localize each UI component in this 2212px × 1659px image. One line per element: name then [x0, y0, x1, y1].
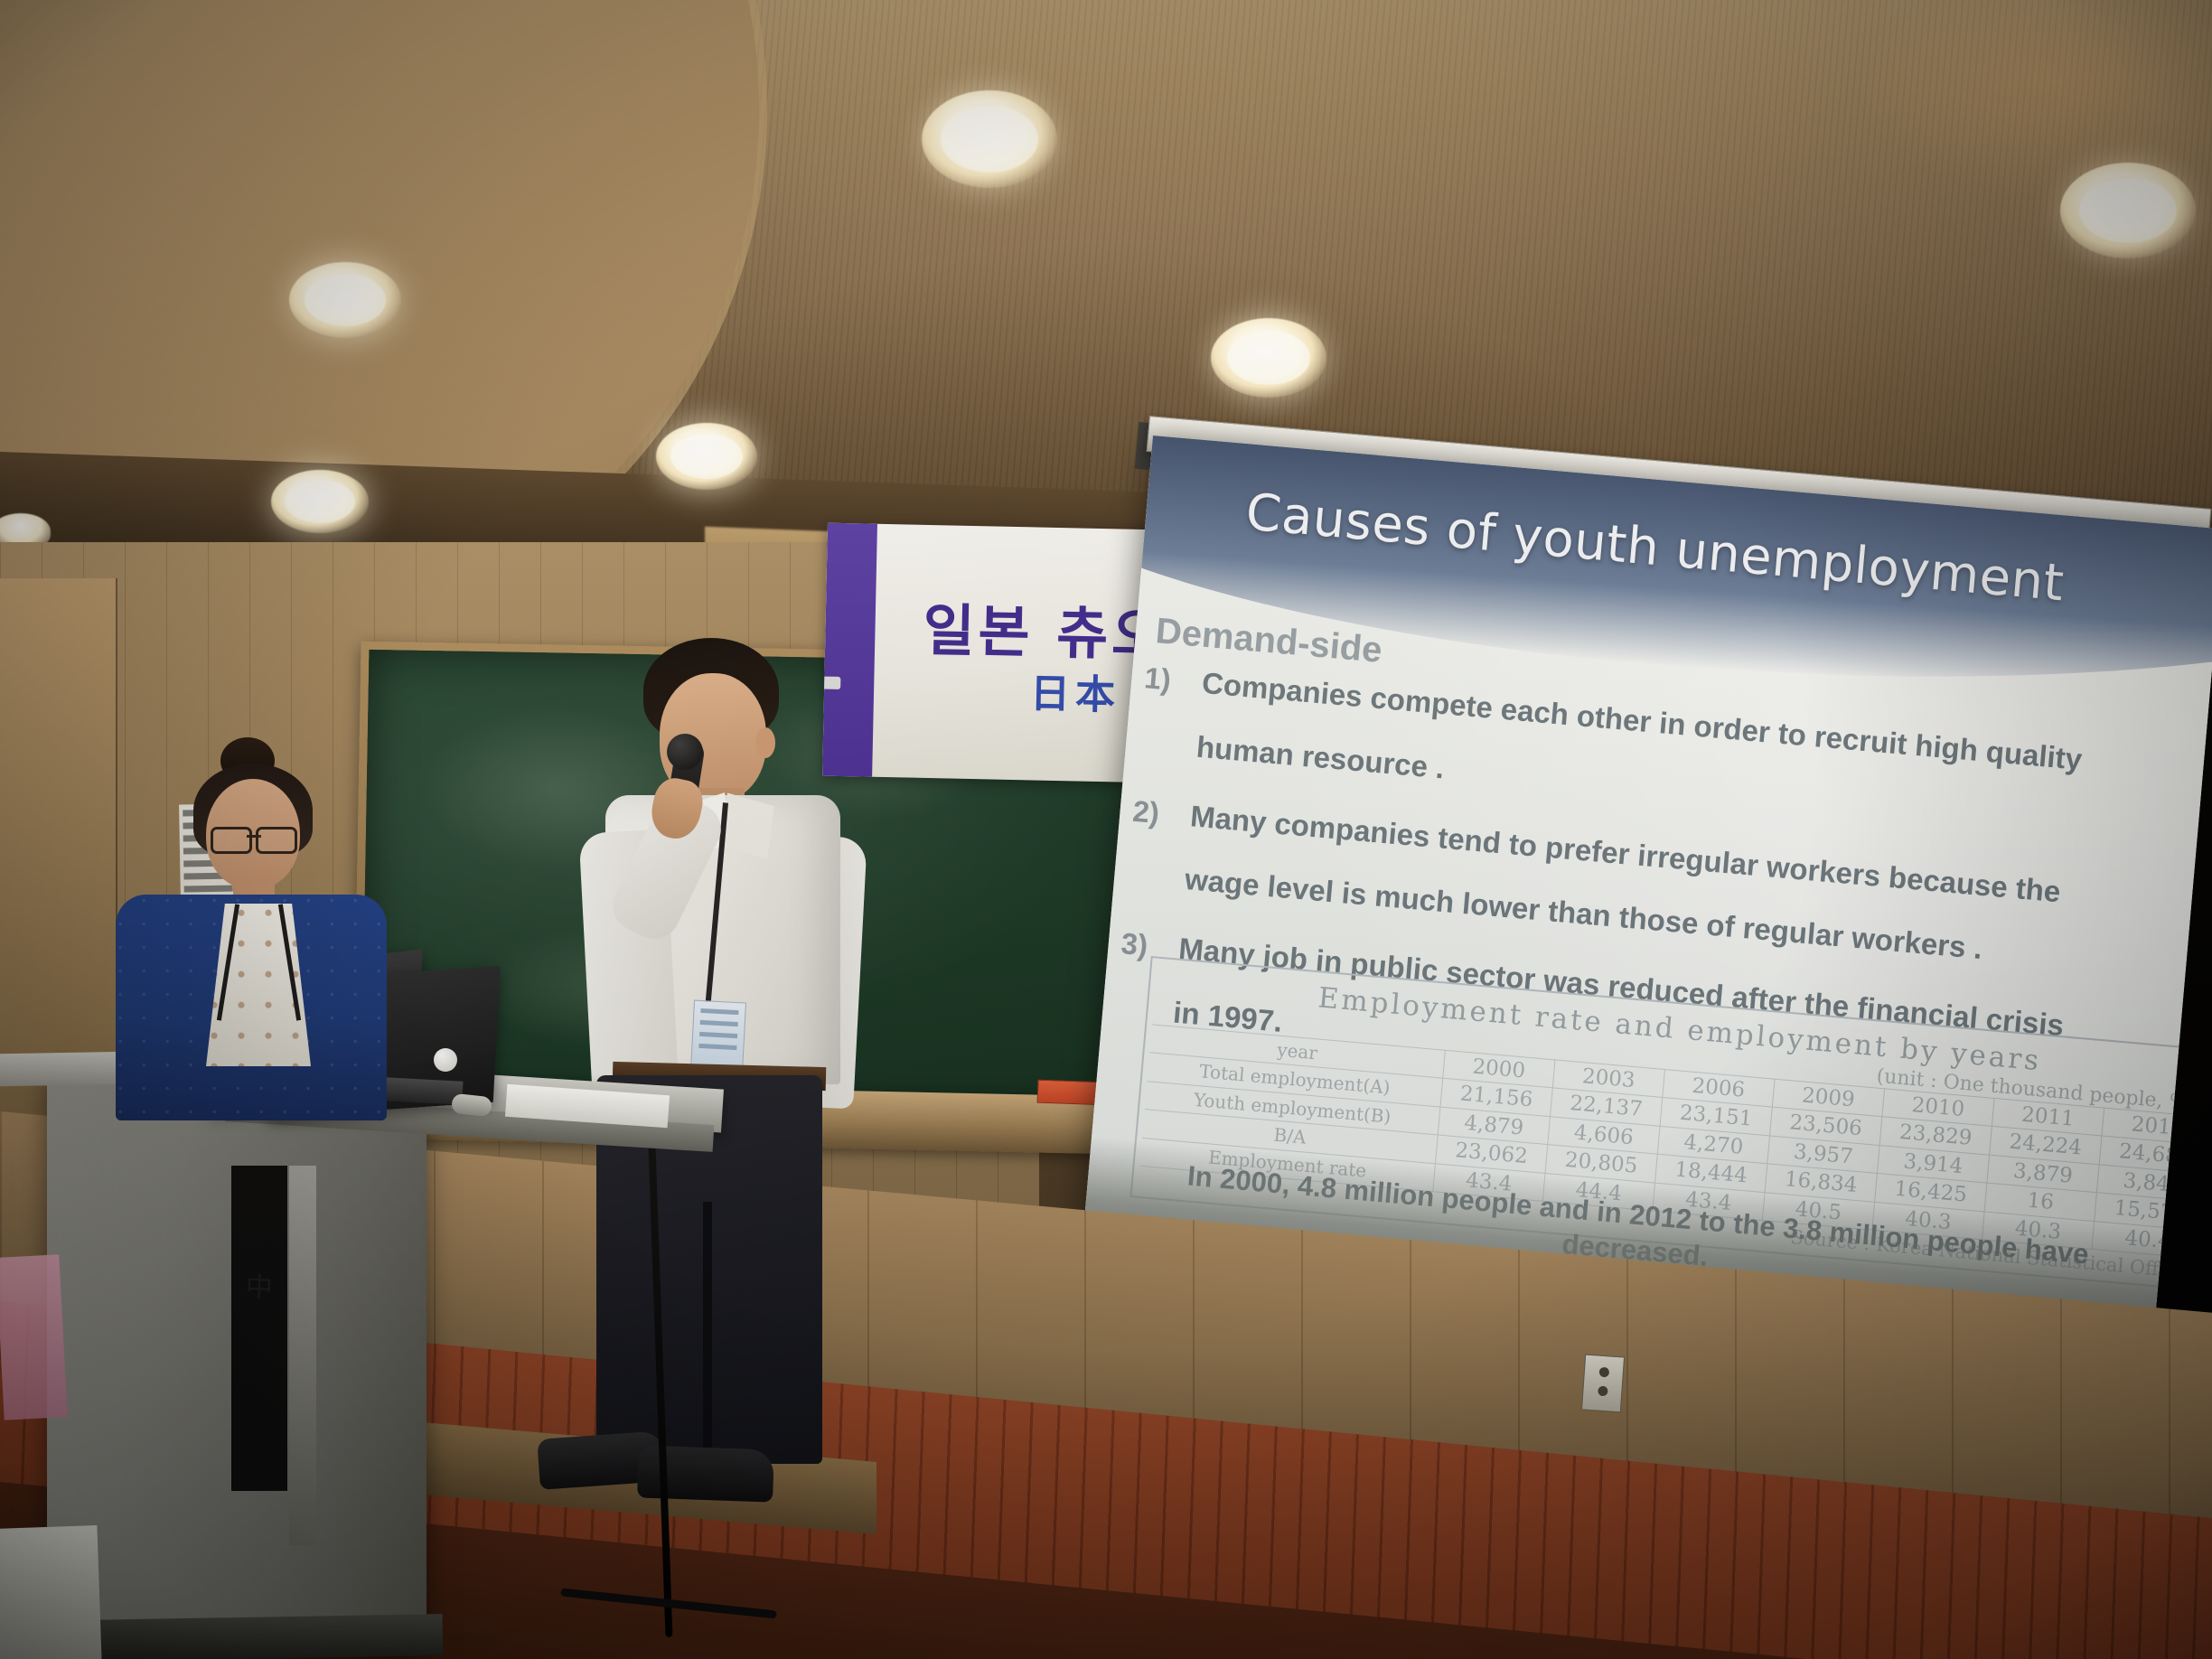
presenter-name-badge — [690, 1000, 746, 1073]
lecture-hall-photo: 일본 츄오 日本 中 Causes of youth unemployment … — [0, 0, 2212, 1659]
podium-recess — [231, 1166, 287, 1491]
presenter-shoe-right — [637, 1445, 774, 1502]
podium-logo: 中 — [245, 1264, 274, 1305]
banner-clip — [822, 676, 840, 689]
bag-on-floor — [0, 1254, 68, 1420]
presenter-ear — [755, 727, 775, 758]
ceiling-downlight-icon — [289, 262, 401, 338]
bullet-number: 2) — [1131, 794, 1176, 829]
cup-on-shelf — [434, 1048, 457, 1072]
ceiling-downlight-icon — [271, 470, 369, 533]
ceiling-downlight-icon — [1211, 318, 1326, 398]
ceiling-downlight-icon — [2060, 163, 2196, 258]
presentation-slide: Causes of youth unemployment Demand-side… — [1078, 436, 2212, 1331]
bullet-number: 1) — [1143, 661, 1187, 697]
podium-edge-stripe — [289, 1166, 316, 1545]
ceiling-downlight-icon — [922, 90, 1057, 188]
microphone-head-icon — [667, 734, 703, 770]
power-outlet-icon — [1581, 1354, 1625, 1413]
presenter-leg-gap — [703, 1202, 712, 1455]
eyeglasses-icon — [211, 827, 297, 850]
ceiling-downlight-icon — [656, 423, 757, 490]
floor-cabinet — [0, 1525, 102, 1659]
banner-korean-title: 일본 츄오 — [923, 585, 1168, 671]
